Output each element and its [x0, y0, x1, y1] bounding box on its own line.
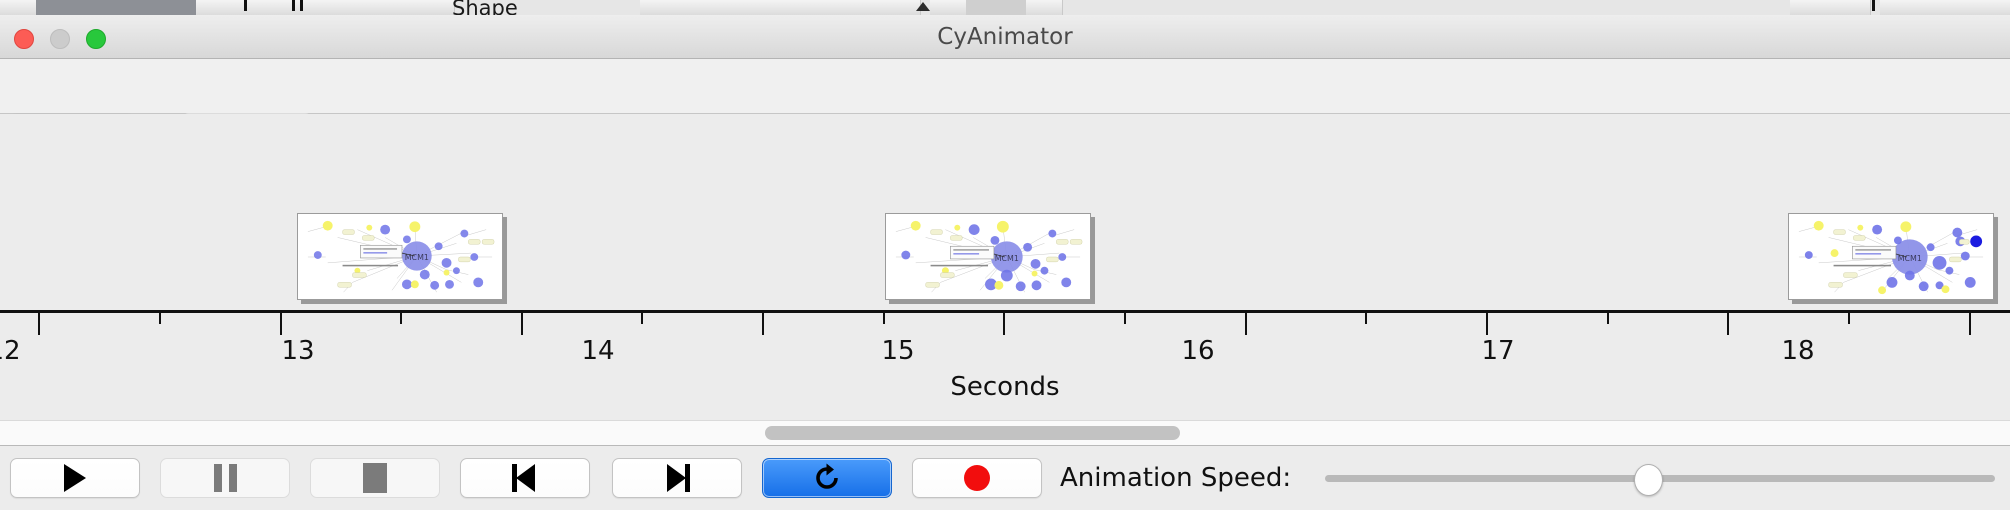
ruler-label: 16 [1181, 336, 1214, 366]
background-window-strip: Shape [0, 0, 2010, 15]
network-thumbnail-graphic: MCM1 [886, 214, 1090, 299]
play-icon [64, 464, 86, 492]
frame-thumbnail-3[interactable]: MCM1 [1788, 213, 1994, 300]
ruler-tick-major [1727, 313, 1729, 335]
ruler-tick-minor [641, 313, 643, 324]
ruler-label: 15 [881, 336, 914, 366]
stop-icon [363, 463, 387, 493]
ruler-tick-major [38, 313, 40, 335]
ruler-axis-title: Seconds [0, 372, 2010, 402]
animation-speed-slider[interactable] [1325, 458, 1995, 498]
slider-thumb[interactable] [1634, 464, 1663, 496]
network-thumbnail-graphic: MCM1 [1789, 214, 1993, 299]
frame-track[interactable]: MCM1 [0, 114, 2010, 310]
pause-icon [214, 464, 237, 492]
skip-next-button[interactable] [612, 458, 742, 498]
ruler-tick-major [1245, 313, 1247, 335]
timeline-scrollbar[interactable] [0, 420, 2010, 446]
ruler-label: 17 [1481, 336, 1514, 366]
ruler-tick-minor [1848, 313, 1850, 324]
ruler-tick-major [1486, 313, 1488, 335]
ruler-tick-major [521, 313, 523, 335]
toolbar: Clear All Frames [0, 59, 2010, 114]
ruler-label: 18 [1781, 336, 1814, 366]
animation-speed-label: Animation Speed: [1060, 458, 1291, 498]
cyanimator-window: Shape CyAnimator [0, 0, 2010, 510]
play-button[interactable] [10, 458, 140, 498]
ruler-label: 14 [581, 336, 614, 366]
ruler-tick-major [1003, 313, 1005, 335]
window-title: CyAnimator [0, 15, 2010, 59]
ruler-tick-major [1969, 313, 1971, 335]
ruler-label: 12 [0, 336, 21, 366]
stop-button[interactable] [310, 458, 440, 498]
ruler-tick-major [280, 313, 282, 335]
network-thumbnail-graphic: MCM1 [298, 214, 502, 299]
loop-button[interactable] [762, 458, 892, 498]
skip-next-icon [664, 464, 690, 492]
ruler-tick-minor [883, 313, 885, 324]
ruler-tick-minor [1365, 313, 1367, 324]
ruler-tick-minor [159, 313, 161, 324]
skip-previous-button[interactable] [460, 458, 590, 498]
pause-button[interactable] [160, 458, 290, 498]
ruler-label: 13 [281, 336, 314, 366]
ruler-baseline [0, 310, 2010, 313]
record-button[interactable] [912, 458, 1042, 498]
background-window-label: Shape [452, 0, 518, 15]
skip-previous-icon [512, 464, 538, 492]
ruler-tick-minor [1124, 313, 1126, 324]
title-bar: CyAnimator [0, 15, 2010, 59]
frame-thumbnail-2[interactable]: MCM1 [885, 213, 1091, 300]
ruler-tick-major [762, 313, 764, 335]
timeline-ruler[interactable]: 12 13 14 15 16 17 18 Seconds [0, 310, 2010, 420]
timeline-scrollbar-thumb[interactable] [765, 426, 1180, 440]
ruler-tick-minor [1607, 313, 1609, 324]
playback-controls: Animation Speed: [0, 446, 2010, 510]
frame-thumbnail-1[interactable]: MCM1 [297, 213, 503, 300]
loop-icon [812, 463, 842, 493]
ruler-tick-minor [400, 313, 402, 324]
record-icon [964, 465, 990, 491]
